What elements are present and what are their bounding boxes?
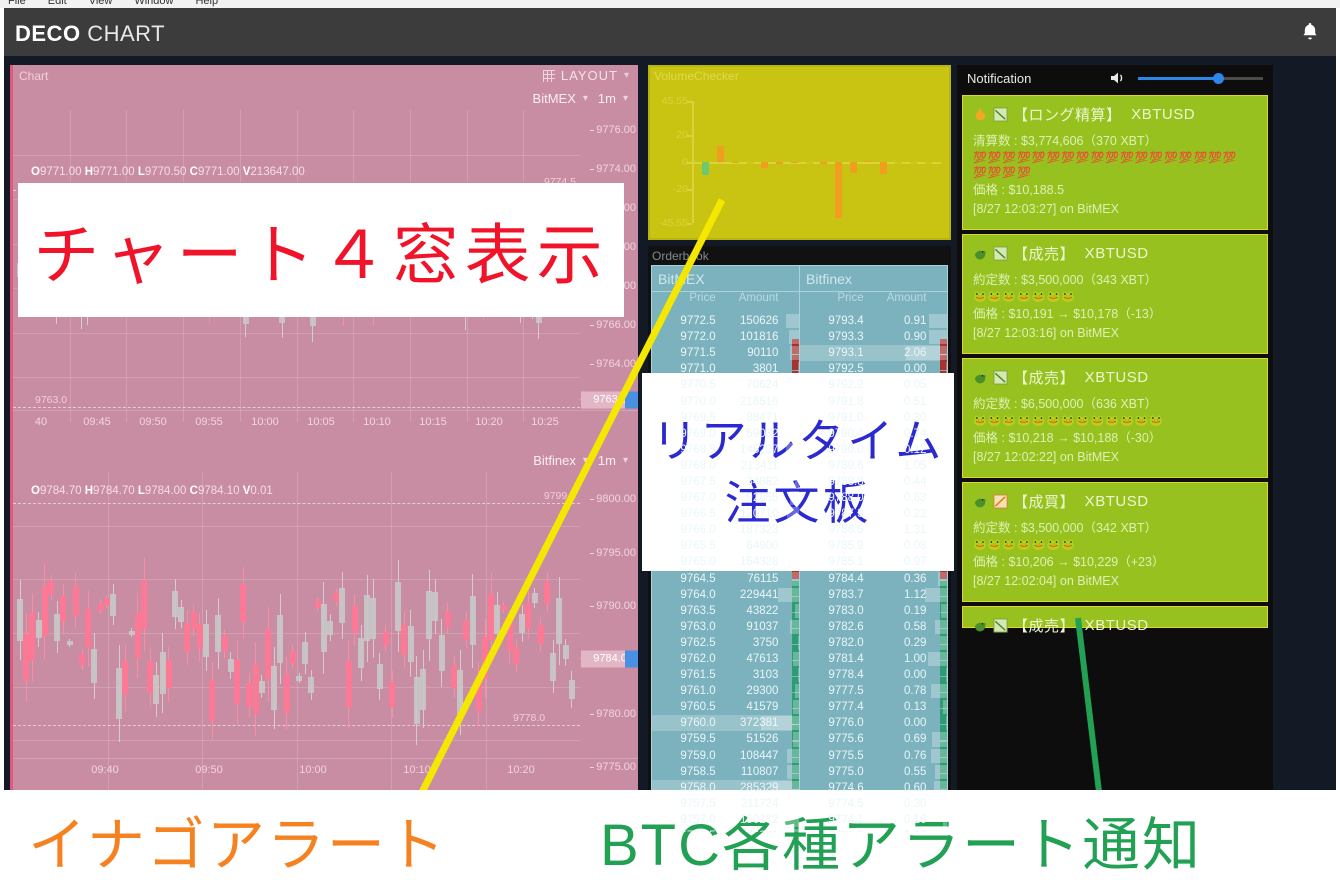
ohlc-l-label: L [138, 485, 145, 497]
workspace: Chart LAYOUT ▾ BitMEX ▾ 1m ▾ [0, 56, 1340, 790]
orderbook-row[interactable]: 9793.30.90 [800, 329, 947, 345]
row-price: 9776.0 [800, 717, 868, 729]
volume-bar [925, 160, 932, 164]
orderbook-row[interactable]: 9771.590110 [652, 345, 799, 361]
candle [476, 677, 482, 711]
row-amount: 0.58 [868, 621, 927, 633]
orderbook-row[interactable]: 9767.534882 [652, 474, 799, 490]
orderbook-row[interactable]: 9774.50.30 [800, 796, 947, 812]
row-amount: 0.08 [868, 540, 927, 552]
depth-bar [793, 732, 799, 746]
row-price: 9758.0 [652, 782, 720, 794]
orderbook-row[interactable]: 9758.5110807 [652, 764, 799, 780]
row-amount: 59032 [720, 428, 779, 440]
notification-card[interactable]: 【成売】 XBTUSD約定数 : $3,500,000（343 XBT）🐸🐸🐸🐸… [962, 234, 1268, 354]
row-price: 9793.1 [800, 347, 868, 359]
orderbook-row[interactable]: 9763.091037 [652, 619, 799, 635]
os-menu-bar[interactable]: FileEditViewWindowHelp [0, 0, 1340, 8]
upper-interval-select[interactable]: 1m ▾ [598, 91, 628, 106]
orderbook-row[interactable]: 9759.0108447 [652, 748, 799, 764]
size-label: 約定数 : [973, 397, 1017, 411]
menu-item-window[interactable]: Window [134, 0, 173, 7]
price-tick: 9790.00 [596, 600, 636, 612]
orderbook-row[interactable]: 9774.60.60 [800, 780, 947, 796]
candle [104, 598, 110, 605]
depth-bar [790, 411, 799, 425]
lower-price-axis: 9800.009795.009790.009785.009780.009775.… [580, 472, 638, 790]
time-tick: 10:10 [363, 416, 391, 428]
depth-bar [944, 539, 947, 553]
row-amount: 0.44 [868, 476, 927, 488]
notification-price-line: 価格 : $10,218 → $10,188（-30） [973, 429, 1257, 448]
row-amount: 0.16 [868, 814, 927, 826]
row-price: 9758.5 [652, 766, 720, 778]
orderbook-row[interactable]: 9765.564900 [652, 538, 799, 554]
row-amount: 0.29 [868, 637, 927, 649]
depth-bar [787, 507, 799, 521]
row-amount: 70624 [720, 379, 779, 391]
row-amount: 0.74 [868, 428, 927, 440]
orderbook-row[interactable]: 9775.50.76 [800, 748, 947, 764]
price-tick: 9766.00 [596, 319, 636, 331]
grid-line-vertical [486, 472, 487, 790]
depth-bar [798, 362, 799, 376]
notification-price-line: 価格 : $10,191 → $10,178（-13） [973, 305, 1257, 324]
orderbook-row[interactable]: 9765.0154328 [652, 554, 799, 570]
orderbook-row[interactable]: 9776.00.00 [800, 715, 947, 731]
orderbook-row[interactable]: 9764.576115 [652, 571, 799, 587]
bell-icon[interactable] [1298, 20, 1322, 44]
bird-icon [973, 369, 988, 386]
volume-tick-mark [687, 223, 692, 225]
row-amount: 0.12 [868, 444, 927, 456]
volume-bar [865, 161, 872, 162]
notification-size-line: 約定数 : $6,500,000（636 XBT） [973, 395, 1257, 414]
price-marker [625, 392, 638, 409]
orderbook-row[interactable]: 9766.0187323 [652, 522, 799, 538]
depth-bar [781, 523, 799, 537]
orderbook-row[interactable]: 9757.0150172 [652, 812, 799, 828]
orderbook-row[interactable]: 9769.588471 [652, 410, 799, 426]
notification-size-line: 約定数 : $3,500,000（342 XBT） [973, 519, 1257, 538]
depth-bar [941, 507, 947, 521]
depth-bar [790, 346, 799, 360]
lower-price-chart[interactable]: O9784.70 H9784.70 L9784.00 C9784.10 V0.0… [13, 472, 638, 790]
row-amount: 76115 [720, 573, 779, 585]
orderbook-body[interactable]: BitMEXPriceAmount9772.51506269772.010181… [651, 265, 948, 833]
orderbook-row[interactable]: 9768.5145207 [652, 442, 799, 458]
depth-bar [929, 330, 947, 344]
row-price: 9772.5 [652, 315, 720, 327]
orderbook-row[interactable]: 9760.0372381 [652, 715, 799, 731]
depth-bar [793, 539, 799, 553]
ohlc-o-value: 9771.00 [40, 166, 82, 178]
time-tick: 10:00 [251, 416, 279, 428]
row-amount: 216516 [720, 396, 779, 408]
notification-emoji-run: 🐸🐸🐸🐸🐸🐸🐸 [973, 290, 1257, 305]
notification-emoji-run: 🐸🐸🐸🐸🐸🐸🐸🐸🐸🐸🐸🐸🐸 [973, 414, 1257, 429]
menu-item-view[interactable]: View [89, 0, 113, 7]
orderbook-row[interactable]: 9761.029300 [652, 683, 799, 699]
depth-bar [790, 491, 799, 505]
price-tick: 9764.00 [596, 358, 636, 370]
row-price: 9793.4 [800, 315, 868, 327]
volume-checker-header: VolumeChecker [650, 67, 949, 85]
lower-interval-select[interactable]: 1m ▾ [598, 453, 628, 468]
lower-interval-label: 1m [598, 453, 616, 468]
orderbook-row[interactable]: 9790.00.12 [800, 442, 947, 458]
orderbook-row[interactable]: 9772.5150626 [652, 313, 799, 329]
row-amount: 0.63 [868, 492, 927, 504]
candle [246, 683, 252, 706]
upper-interval-label: 1m [598, 91, 616, 106]
orderbook-row[interactable]: 9784.40.36 [800, 571, 947, 587]
upper-exchange-label: BitMEX [533, 91, 576, 106]
orderbook-row[interactable]: 9757.5211724 [652, 796, 799, 812]
upper-exchange-select[interactable]: BitMEX ▾ [533, 91, 588, 106]
time-tick: 10:20 [507, 764, 535, 776]
orderbook-row[interactable]: 9789.61.05 [800, 458, 947, 474]
notification-header: Notification [957, 65, 1273, 91]
orderbook-row[interactable]: 9787.30.22 [800, 506, 947, 522]
row-amount: 120710 [720, 508, 779, 520]
price-label: 価格 : [973, 555, 1005, 569]
depth-bar [940, 636, 947, 650]
row-amount: 1.00 [868, 653, 927, 665]
row-price: 9763.0 [652, 621, 720, 633]
row-price: 9768.5 [652, 444, 720, 456]
candle [290, 651, 296, 664]
chart-panel-title: Chart [19, 69, 48, 83]
orderbook-row[interactable]: 9766.5120710 [652, 506, 799, 522]
candle [17, 599, 23, 641]
notification-price-line: 価格 : $10,188.5 [973, 181, 1257, 200]
orderbook-row[interactable]: 9793.40.91 [800, 313, 947, 329]
row-price: 9768.0 [652, 460, 720, 472]
row-amount: 29300 [720, 685, 779, 697]
depth-bar [795, 684, 799, 698]
candle [284, 674, 290, 713]
grid-line-vertical [108, 472, 109, 790]
depth-bar [777, 797, 799, 811]
candle [370, 598, 376, 639]
candle [36, 620, 42, 638]
orderbook-row[interactable]: 9758.0285329 [652, 780, 799, 796]
candle [513, 647, 519, 664]
ohlc-h-value: 9784.70 [93, 485, 135, 497]
depth-bar [787, 765, 799, 779]
candle [178, 607, 184, 622]
candle [160, 652, 166, 694]
orderbook-row[interactable]: 9792.50.00 [800, 361, 947, 377]
grid-line-vertical [297, 472, 298, 790]
orderbook-row[interactable]: 9763.543822 [652, 603, 799, 619]
chart-down-icon [993, 369, 1008, 386]
notification-card[interactable]: 【成買】 XBTUSD約定数 : $3,500,000（342 XBT）🐸🐸🐸🐸… [962, 482, 1268, 602]
candle [129, 631, 135, 636]
notification-card[interactable]: 【ロング精算】 XBTUSD清算数 : $3,774,606（370 XBT）💯… [962, 95, 1268, 230]
depth-bar [793, 427, 799, 441]
volume-bar [732, 162, 739, 163]
depth-bar [793, 700, 799, 714]
candle [327, 621, 333, 635]
time-tick: 10:10 [403, 764, 431, 776]
candle [110, 594, 116, 616]
orderbook-row[interactable]: 9768.0213411 [652, 458, 799, 474]
row-amount: 0.60 [868, 782, 927, 794]
orderbook-row[interactable]: 9791.00.30 [800, 410, 947, 426]
row-price: 9790.0 [800, 444, 868, 456]
row-amount: 92055 [720, 492, 779, 504]
notification-title-row: 【成売】 XBTUSD [973, 367, 1257, 388]
volume-zero-line [692, 162, 941, 164]
menu-item-edit[interactable]: Edit [48, 0, 67, 7]
candle [538, 625, 544, 644]
row-amount: 0.00 [868, 717, 927, 729]
orderbook-row[interactable]: 9783.00.19 [800, 603, 947, 619]
candle [203, 624, 209, 656]
row-price: 9772.0 [652, 331, 720, 343]
grid-line-horizontal [13, 155, 580, 156]
app-brand: DECO CHART [15, 21, 165, 47]
caption-inago-alert: イナゴアラート [28, 798, 447, 880]
orderbook-row[interactable]: 9775.60.69 [800, 731, 947, 747]
candle [135, 613, 141, 658]
chart-down-icon [993, 245, 1008, 262]
row-price: 9769.0 [652, 428, 720, 440]
orderbook-row[interactable]: 9769.059032 [652, 426, 799, 442]
candle [191, 612, 197, 629]
candle [98, 603, 104, 611]
orderbook-row[interactable]: 9781.41.00 [800, 651, 947, 667]
price-tick: 9774.00 [596, 163, 636, 175]
depth-bar [937, 475, 947, 489]
menu-item-help[interactable]: Help [195, 0, 218, 7]
orderbook-row[interactable]: 9759.551526 [652, 731, 799, 747]
row-amount: 3750 [720, 637, 779, 649]
grid-line-horizontal [13, 526, 580, 527]
volume-checker-chart[interactable]: 45.55200-20-45.55 [650, 85, 949, 237]
grid-line-horizontal [13, 687, 580, 688]
candle [23, 634, 29, 681]
bird-icon [973, 493, 988, 510]
row-price: 9765.0 [652, 556, 720, 568]
price-value: $10,188.5 [1008, 183, 1064, 197]
ohlc-o-label: O [31, 485, 40, 497]
orderbook-row[interactable]: 9786.51.31 [800, 522, 947, 538]
orderbook-row[interactable]: 9762.53750 [652, 635, 799, 651]
bird-icon [973, 245, 988, 262]
depth-bar [784, 555, 799, 569]
candle [321, 604, 327, 652]
orderbook-row[interactable]: 9777.40.13 [800, 699, 947, 715]
candle [346, 661, 352, 708]
orderbook-row[interactable]: 9793.12.06 [800, 345, 947, 361]
notification-kind: 【成売】 [1013, 367, 1075, 388]
brand-light: CHART [87, 21, 165, 46]
row-price: 9793.3 [800, 331, 868, 343]
upper-ohlc-readout: O9771.00 H9771.00 L9770.50 C9771.00 V213… [31, 166, 305, 178]
notification-title-row: 【成売】 XBTUSD [973, 243, 1257, 264]
volume-bar [910, 160, 917, 164]
row-amount: 41579 [720, 701, 779, 713]
annotation-chart-4-windows: チャート４窓表示 [18, 183, 624, 317]
row-price: 9783.0 [800, 605, 868, 617]
candle [184, 623, 190, 652]
notification-card[interactable]: 【成売】 XBTUSD約定数 : $6,500,000（636 XBT）🐸🐸🐸🐸… [962, 358, 1268, 478]
row-price: 9783.7 [800, 589, 868, 601]
notification-card[interactable]: 【成売】 XBTUSD [962, 606, 1268, 628]
menu-item-file[interactable]: File [8, 0, 26, 7]
upper-chart-toolbar: BitMEX ▾ 1m ▾ [13, 86, 638, 110]
row-price: 9766.0 [652, 524, 720, 536]
orderbook-row[interactable]: 9774.10.16 [800, 812, 947, 828]
slider-knob[interactable] [1213, 73, 1224, 84]
row-price: 9769.5 [652, 412, 720, 424]
candle [494, 605, 500, 634]
notification-emoji-run: 💯💯💯💯💯💯💯💯💯💯💯💯💯💯💯💯💯💯💯💯💯💯 [973, 151, 1257, 181]
orderbook-column-bitmex: BitMEXPriceAmount9772.51506269772.010181… [652, 266, 799, 832]
candle [79, 654, 85, 665]
depth-bar [934, 491, 947, 505]
row-amount: 1.12 [868, 589, 927, 601]
orderbook-row[interactable]: 9772.0101816 [652, 329, 799, 345]
chevron-down-icon: ▾ [623, 455, 628, 466]
candle [259, 681, 265, 693]
candle [463, 621, 469, 640]
candle [445, 611, 451, 627]
notification-size-line: 約定数 : $3,500,000（343 XBT） [973, 271, 1257, 290]
orderbook-row[interactable]: 9790.40.74 [800, 426, 947, 442]
depth-bar [780, 394, 799, 408]
row-price: 9770.0 [652, 396, 720, 408]
orderbook-row[interactable]: 9791.80.51 [800, 393, 947, 409]
row-amount: 0.36 [868, 573, 927, 585]
candle [240, 584, 246, 622]
candle [569, 680, 575, 700]
ohlc-l-label: L [138, 166, 145, 178]
row-amount: 3103 [720, 669, 779, 681]
row-price: 9789.6 [800, 460, 868, 472]
orderbook-row[interactable]: 9783.71.12 [800, 587, 947, 603]
slider-fill [1138, 77, 1218, 80]
notification-panel: Notification 【ロング精算】 XBTUSD清算数 : $3,774,… [957, 65, 1273, 836]
row-price: 9767.5 [652, 476, 720, 488]
depth-bar [929, 314, 947, 328]
orderbook-row[interactable]: 9785.10.97 [800, 554, 947, 570]
orderbook-row[interactable]: 9782.60.58 [800, 619, 947, 635]
orderbook-row[interactable]: 9785.90.08 [800, 538, 947, 554]
orderbook-row[interactable]: 9788.00.63 [800, 490, 947, 506]
row-price: 9790.4 [800, 428, 868, 440]
candle [48, 581, 54, 594]
volume-tick-mark [687, 101, 692, 103]
notification-list[interactable]: 【ロング精算】 XBTUSD清算数 : $3,774,606（370 XBT）💯… [957, 91, 1273, 628]
row-amount: 88471 [720, 412, 779, 424]
depth-bar [789, 330, 799, 344]
depth-bar [798, 668, 799, 682]
chart-up-icon [993, 493, 1008, 510]
lower-ohlc-readout: O9784.70 H9784.70 L9784.00 C9784.10 V0.0… [31, 485, 273, 497]
time-tick: 40 [35, 416, 47, 428]
row-amount: 150172 [720, 814, 779, 826]
orderbook-panel: Orderbook BitMEXPriceAmount9772.51506269… [648, 246, 951, 836]
orderbook-row[interactable]: 9760.541579 [652, 699, 799, 715]
notification-price-line: 価格 : $10,206 → $10,229（+23） [973, 553, 1257, 572]
candle [296, 676, 302, 681]
orderbook-row[interactable]: 9770.570624 [652, 377, 799, 393]
ohlc-h-label: H [85, 485, 93, 497]
header-price: Price [652, 292, 720, 313]
size-value: $3,500,000（342 XBT） [1021, 521, 1157, 535]
row-amount: 372381 [720, 717, 779, 729]
orderbook-row[interactable]: 9770.0216516 [652, 393, 799, 409]
orderbook-row[interactable]: 9761.53103 [652, 667, 799, 683]
speaker-icon[interactable] [1110, 71, 1126, 85]
time-tick: 09:50 [139, 416, 167, 428]
orderbook-row[interactable]: 9792.20.05 [800, 377, 947, 393]
orderbook-row[interactable]: 9775.00.55 [800, 764, 947, 780]
depth-bar [946, 716, 947, 730]
depth-bar [932, 427, 947, 441]
notification-size-line: 清算数 : $3,774,606（370 XBT） [973, 132, 1257, 151]
row-amount: 229441 [720, 589, 779, 601]
orderbook-column-headers: PriceAmount [800, 292, 947, 313]
candle [420, 669, 426, 710]
candle [432, 592, 438, 621]
row-price: 9761.5 [652, 669, 720, 681]
row-price: 9788.8 [800, 476, 868, 488]
notification-timestamp: [8/27 12:02:04] on BitMEX [973, 572, 1257, 591]
time-tick: 09:50 [195, 764, 223, 776]
orderbook-row[interactable]: 9762.047613 [652, 651, 799, 667]
candle [377, 664, 383, 689]
orderbook-row[interactable]: 9782.00.29 [800, 635, 947, 651]
orderbook-exchange-label: Bitfinex [800, 266, 947, 292]
ohlc-o-label: O [31, 166, 40, 178]
right-white-strip [1336, 8, 1340, 790]
time-tick: 09:55 [195, 416, 223, 428]
volume-slider[interactable] [1138, 71, 1263, 85]
volume-tick-mark [687, 162, 692, 164]
candle [339, 588, 345, 623]
row-amount: 0.22 [868, 508, 927, 520]
candle [153, 675, 159, 704]
depth-bar [786, 443, 799, 457]
row-price: 9760.5 [652, 701, 720, 713]
orderbook-row[interactable]: 9764.0229441 [652, 587, 799, 603]
ohlc-c-label: C [190, 485, 198, 497]
row-amount: 1.31 [868, 524, 927, 536]
volume-checker-title: VolumeChecker [654, 69, 739, 83]
orderbook-row[interactable]: 9788.80.44 [800, 474, 947, 490]
row-price: 9774.5 [800, 798, 868, 810]
orderbook-row[interactable]: 9778.40.00 [800, 667, 947, 683]
row-amount: 90110 [720, 347, 779, 359]
row-amount: 0.13 [868, 701, 927, 713]
orderbook-row[interactable]: 9767.092055 [652, 490, 799, 506]
caption-btc-alerts: BTC各種アラート通知 [600, 798, 1202, 880]
lower-time-axis: 09:4009:5010:0010:1010:20 [13, 758, 638, 784]
orderbook-row[interactable]: 9777.50.78 [800, 683, 947, 699]
row-amount: 108447 [720, 750, 779, 762]
layout-button[interactable]: LAYOUT ▾ [543, 68, 632, 83]
orderbook-row[interactable]: 9771.03801 [652, 361, 799, 377]
ohlc-h-label: H [85, 166, 93, 178]
lower-exchange-select[interactable]: Bitfinex ▾ [533, 453, 588, 468]
candle [563, 645, 569, 659]
candle [234, 660, 240, 704]
